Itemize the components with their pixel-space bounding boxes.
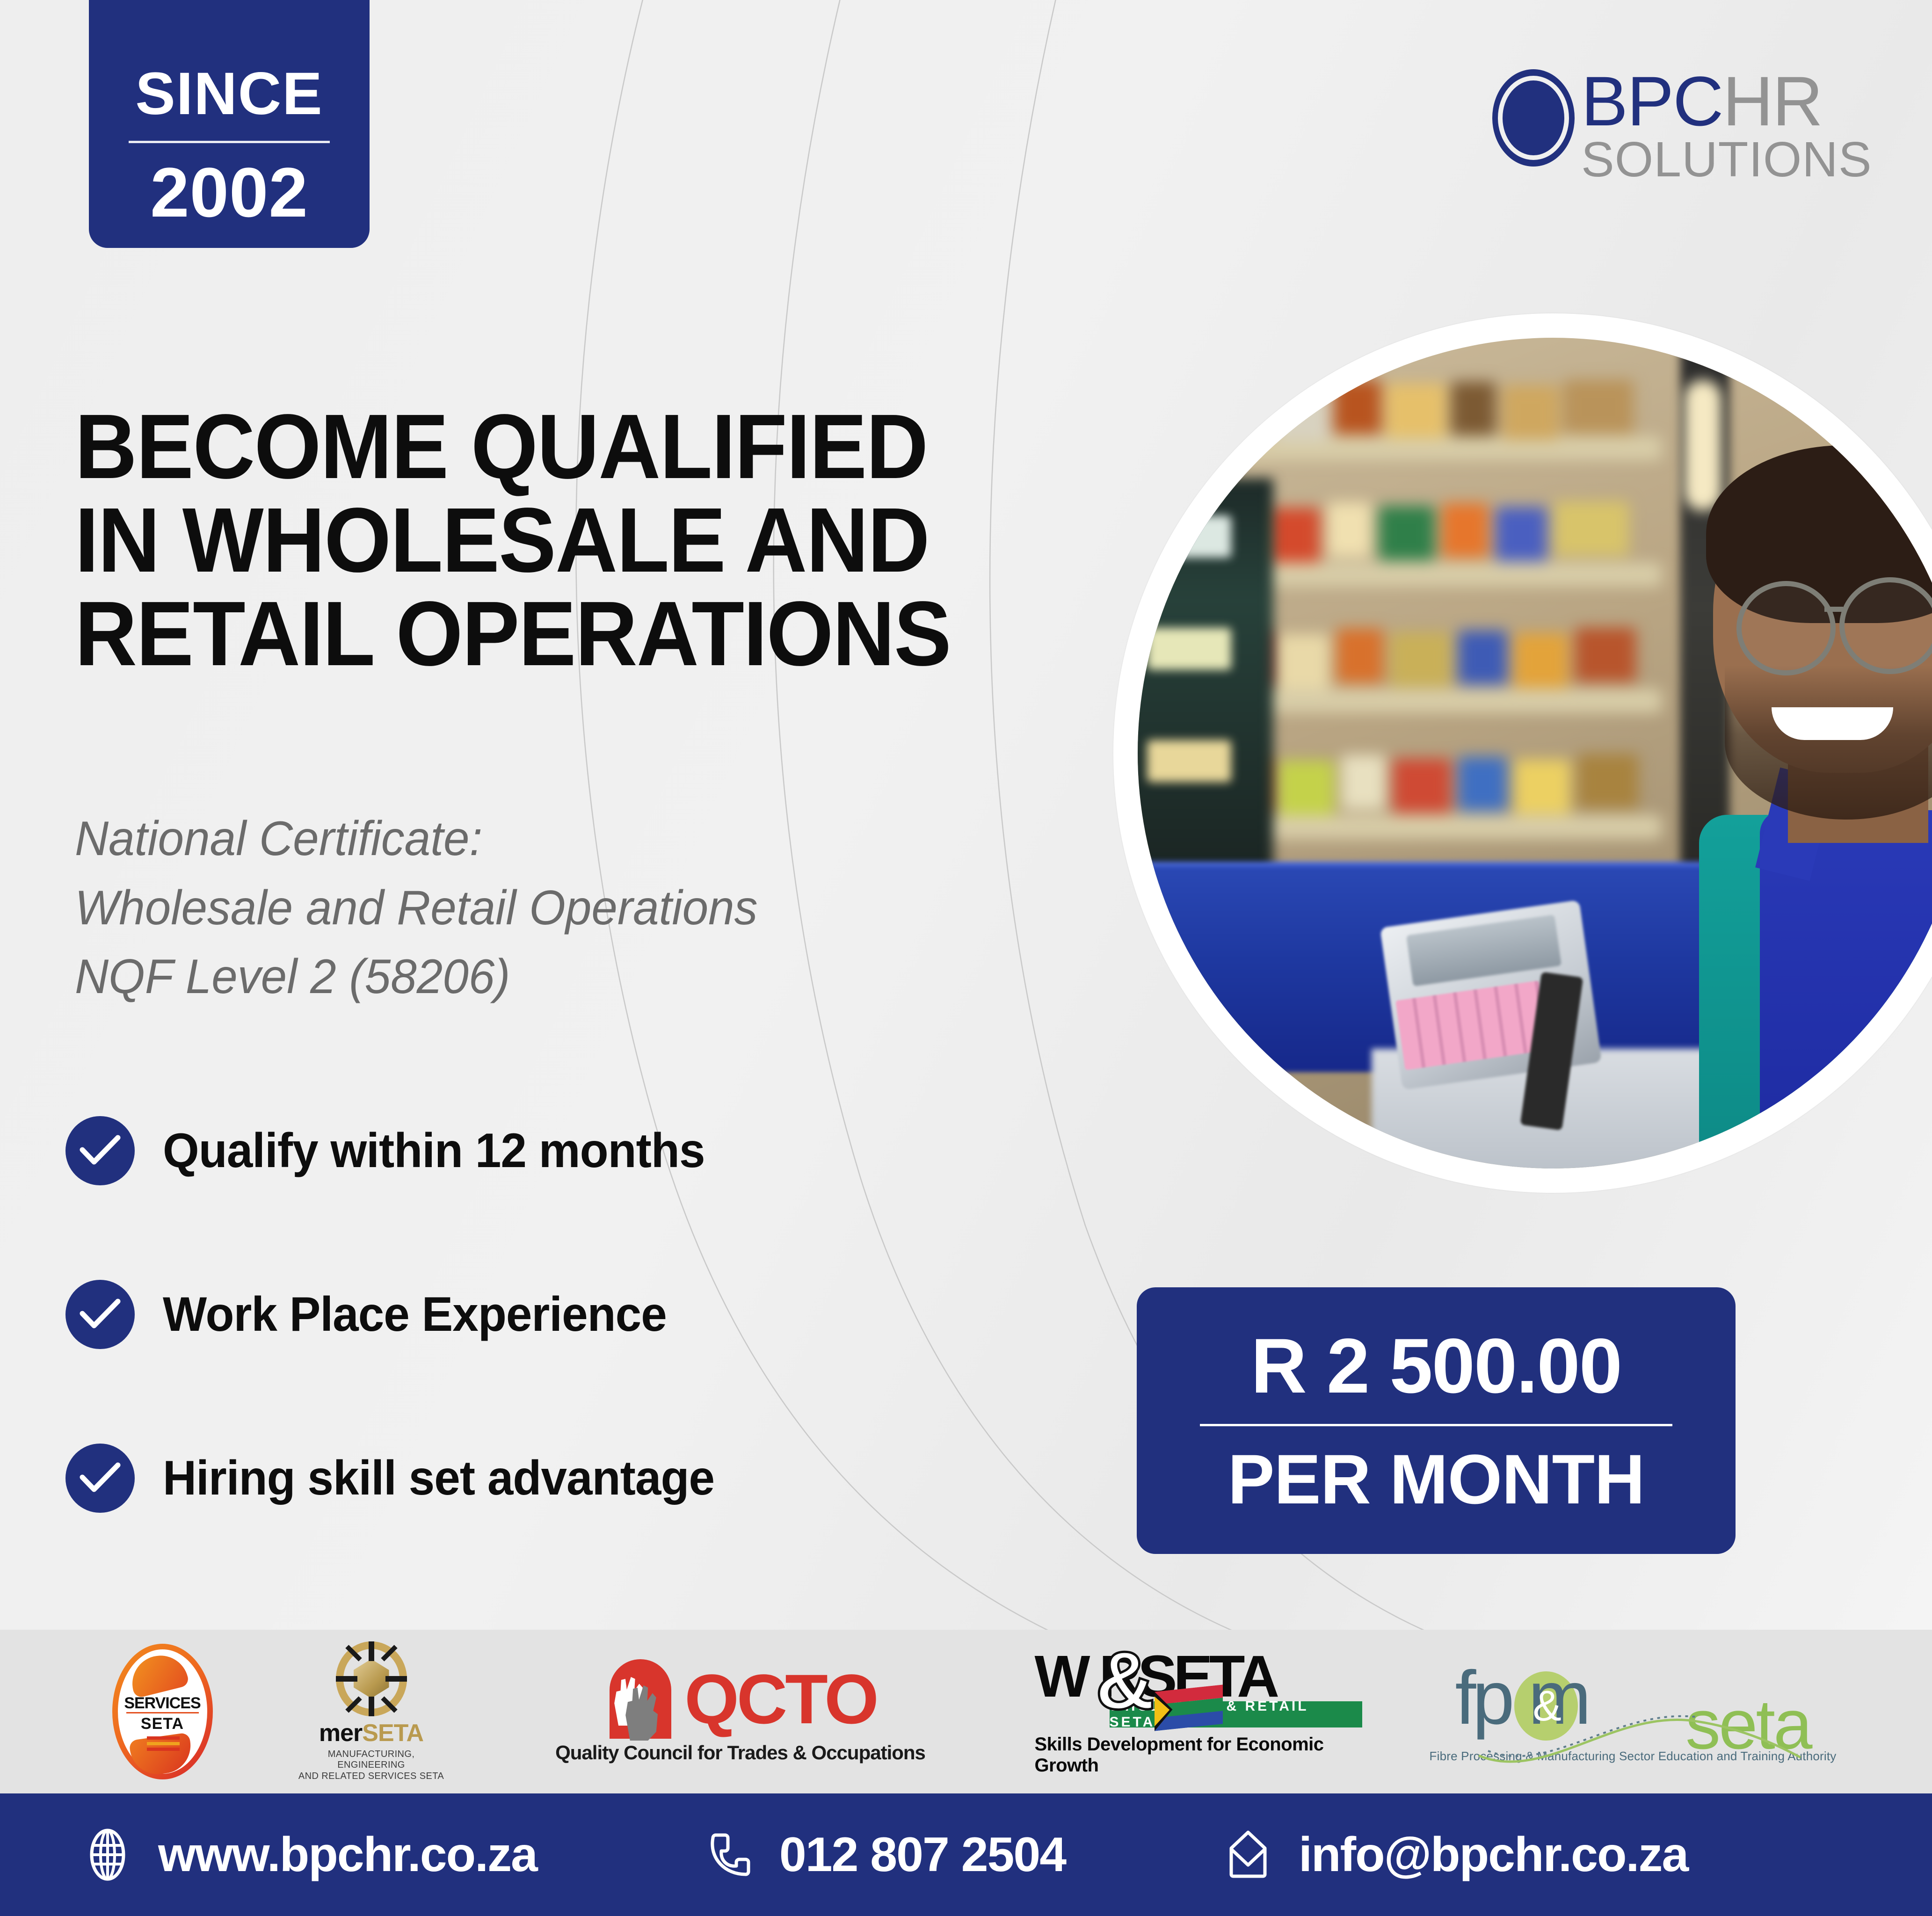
partner-logo-services-seta: SERVICES SETA (112, 1644, 213, 1779)
headline-line-3: RETAIL OPERATIONS (75, 587, 1086, 681)
services-seta-name-line-1: SERVICES (112, 1694, 213, 1713)
phone-label: 012 807 2504 (779, 1827, 1066, 1883)
benefits-list: Qualify within 12 months Work Place Expe… (65, 1104, 1048, 1595)
since-label: SINCE (135, 64, 323, 124)
south-africa-flag-icon (1155, 1684, 1223, 1731)
merseta-name-primary: mer (319, 1720, 362, 1747)
services-seta-name-line-2: SETA (112, 1715, 213, 1733)
phone-icon (701, 1827, 757, 1883)
footer-phone[interactable]: 012 807 2504 (701, 1827, 1066, 1883)
qcto-logo (604, 1659, 679, 1739)
partner-logo-merseta: merSETA MANUFACTURING, ENGINEERING AND R… (297, 1641, 446, 1782)
since-divider (129, 141, 330, 143)
check-icon (65, 1116, 135, 1185)
brand-name-secondary: HR (1722, 62, 1822, 140)
email-label: info@bpchr.co.za (1299, 1827, 1688, 1883)
check-icon (65, 1444, 135, 1513)
benefit-label: Work Place Experience (163, 1287, 667, 1343)
hero-photo (1138, 338, 1932, 1168)
brand-tagline: SOLUTIONS (1581, 135, 1872, 184)
merseta-tagline-line-1: MANUFACTURING, ENGINEERING (297, 1749, 446, 1771)
partner-logo-wrseta: W RSETA & WHOLESALE & RETAIL SETA Skills… (1035, 1647, 1362, 1776)
contact-footer: www.bpchr.co.za 012 807 2504 info@bpchr.… (0, 1793, 1932, 1916)
since-year: 2002 (150, 157, 308, 227)
merseta-tagline-line-2: AND RELATED SERVICES SETA (297, 1771, 446, 1782)
footer-website[interactable]: www.bpchr.co.za (80, 1827, 537, 1883)
brand-wordmark: BPCHR SOLUTIONS (1581, 65, 1872, 184)
benefit-label: Qualify within 12 months (163, 1123, 705, 1179)
partner-logo-fpmseta: fp m & seta Fibre Processing & Manufactu… (1446, 1660, 1820, 1764)
list-item: Hiring skill set advantage (65, 1431, 1048, 1525)
list-item: Qualify within 12 months (65, 1104, 1048, 1197)
services-seta-logo: SERVICES SETA (112, 1644, 213, 1779)
wrseta-ampersand-icon: & (1096, 1640, 1155, 1722)
price-divider (1200, 1424, 1672, 1426)
globe-icon (80, 1827, 136, 1883)
circle-ring-icon (1492, 69, 1575, 167)
price-period: PER MONTH (1228, 1444, 1645, 1514)
page-title: BECOME QUALIFIED IN WHOLESALE AND RETAIL… (75, 400, 1086, 681)
merseta-name-secondary: SETA (362, 1720, 423, 1747)
merseta-logo (336, 1641, 407, 1716)
price-badge: R 2 500.00 PER MONTH (1137, 1287, 1736, 1554)
fpmseta-swoosh-icon (1479, 1705, 1801, 1766)
wrseta-logo: W RSETA & (1035, 1647, 1362, 1703)
partner-logo-strip: SERVICES SETA merSETA (0, 1630, 1932, 1793)
subtitle-line-3: NQF Level 2 (58206) (75, 943, 1063, 1012)
subtitle-line-2: Wholesale and Retail Operations (75, 874, 1063, 943)
fpmseta-logo: fp m & seta (1446, 1660, 1820, 1749)
benefit-label: Hiring skill set advantage (163, 1451, 714, 1506)
qcto-name: QCTO (684, 1668, 877, 1731)
wrseta-tagline: Skills Development for Economic Growth (1035, 1734, 1362, 1776)
poster-canvas: SINCE 2002 BPCHR SOLUTIONS BECOME QUALIF… (0, 0, 1932, 1916)
headline-line-2: IN WHOLESALE AND (75, 494, 1086, 587)
list-item: Work Place Experience (65, 1268, 1048, 1361)
headline-line-1: BECOME QUALIFIED (75, 400, 1086, 494)
since-badge: SINCE 2002 (89, 0, 370, 248)
footer-email[interactable]: info@bpchr.co.za (1220, 1827, 1688, 1883)
brand-logo[interactable]: BPCHR SOLUTIONS (1492, 65, 1852, 173)
check-icon (65, 1280, 135, 1349)
partner-logo-qcto: QCTO Quality Council for Trades & Occupa… (530, 1659, 951, 1764)
price-amount: R 2 500.00 (1251, 1328, 1621, 1405)
website-label: www.bpchr.co.za (158, 1827, 537, 1883)
brand-name-primary: BPC (1581, 62, 1722, 140)
subtitle-line-1: National Certificate: (75, 805, 1063, 874)
envelope-icon (1220, 1827, 1276, 1883)
qcto-tagline: Quality Council for Trades & Occupations (555, 1742, 925, 1764)
qualification-subtitle: National Certificate: Wholesale and Reta… (75, 805, 1063, 1012)
